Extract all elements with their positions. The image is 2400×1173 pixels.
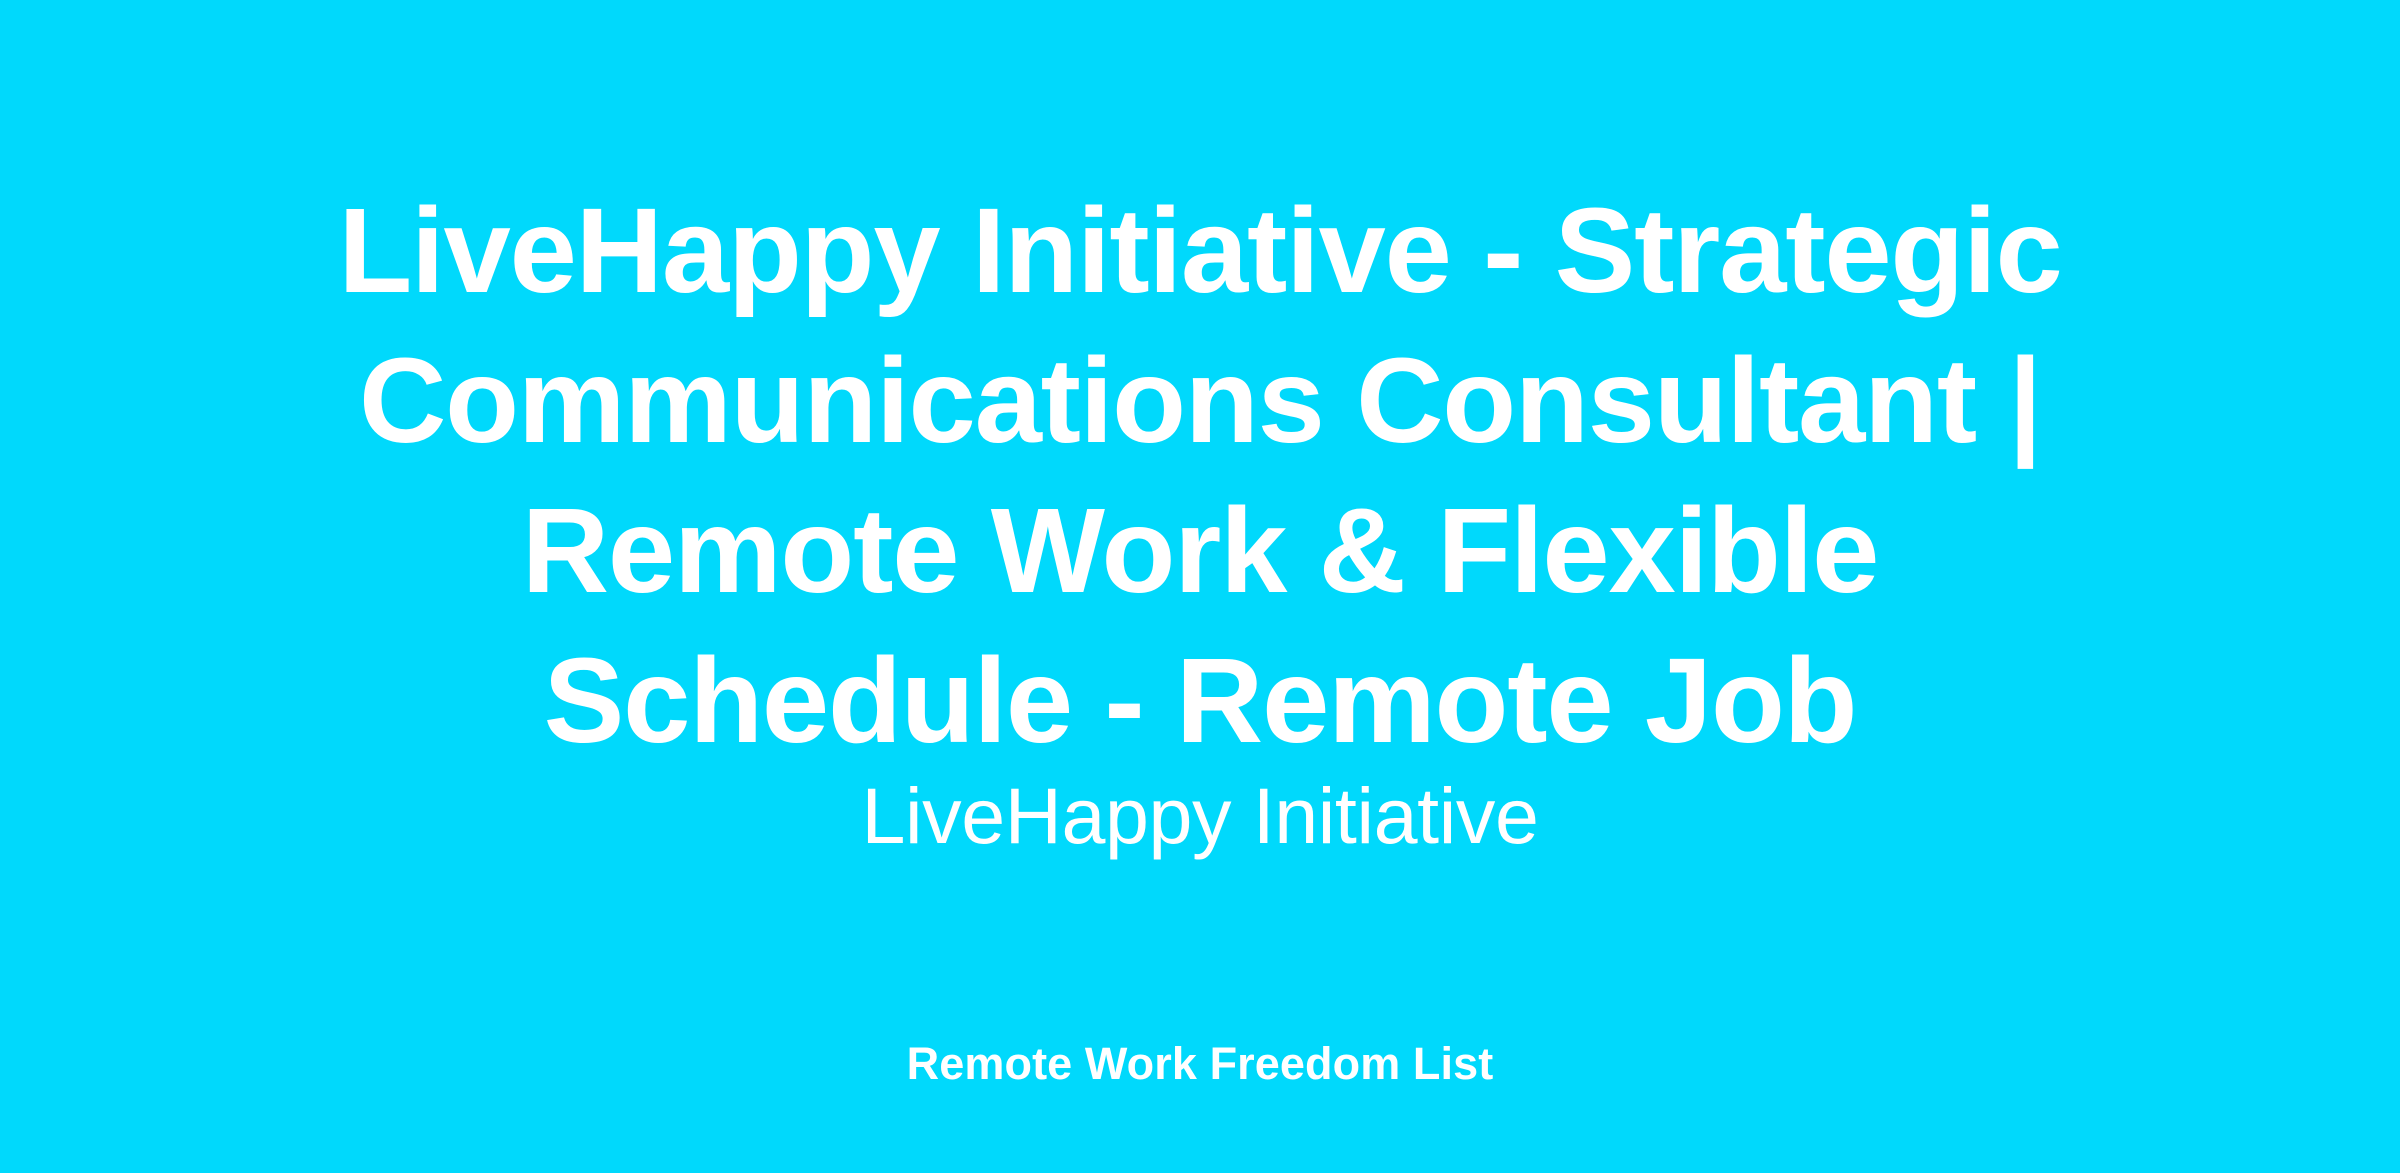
job-posting-card: LiveHappy Initiative - Strategic Communi… (0, 0, 2400, 1173)
company-name: LiveHappy Initiative (0, 768, 2400, 863)
source-label: Remote Work Freedom List (0, 1036, 2400, 1091)
title-block: LiveHappy Initiative - Strategic Communi… (0, 0, 2400, 775)
page-title: LiveHappy Initiative - Strategic Communi… (0, 175, 2400, 775)
